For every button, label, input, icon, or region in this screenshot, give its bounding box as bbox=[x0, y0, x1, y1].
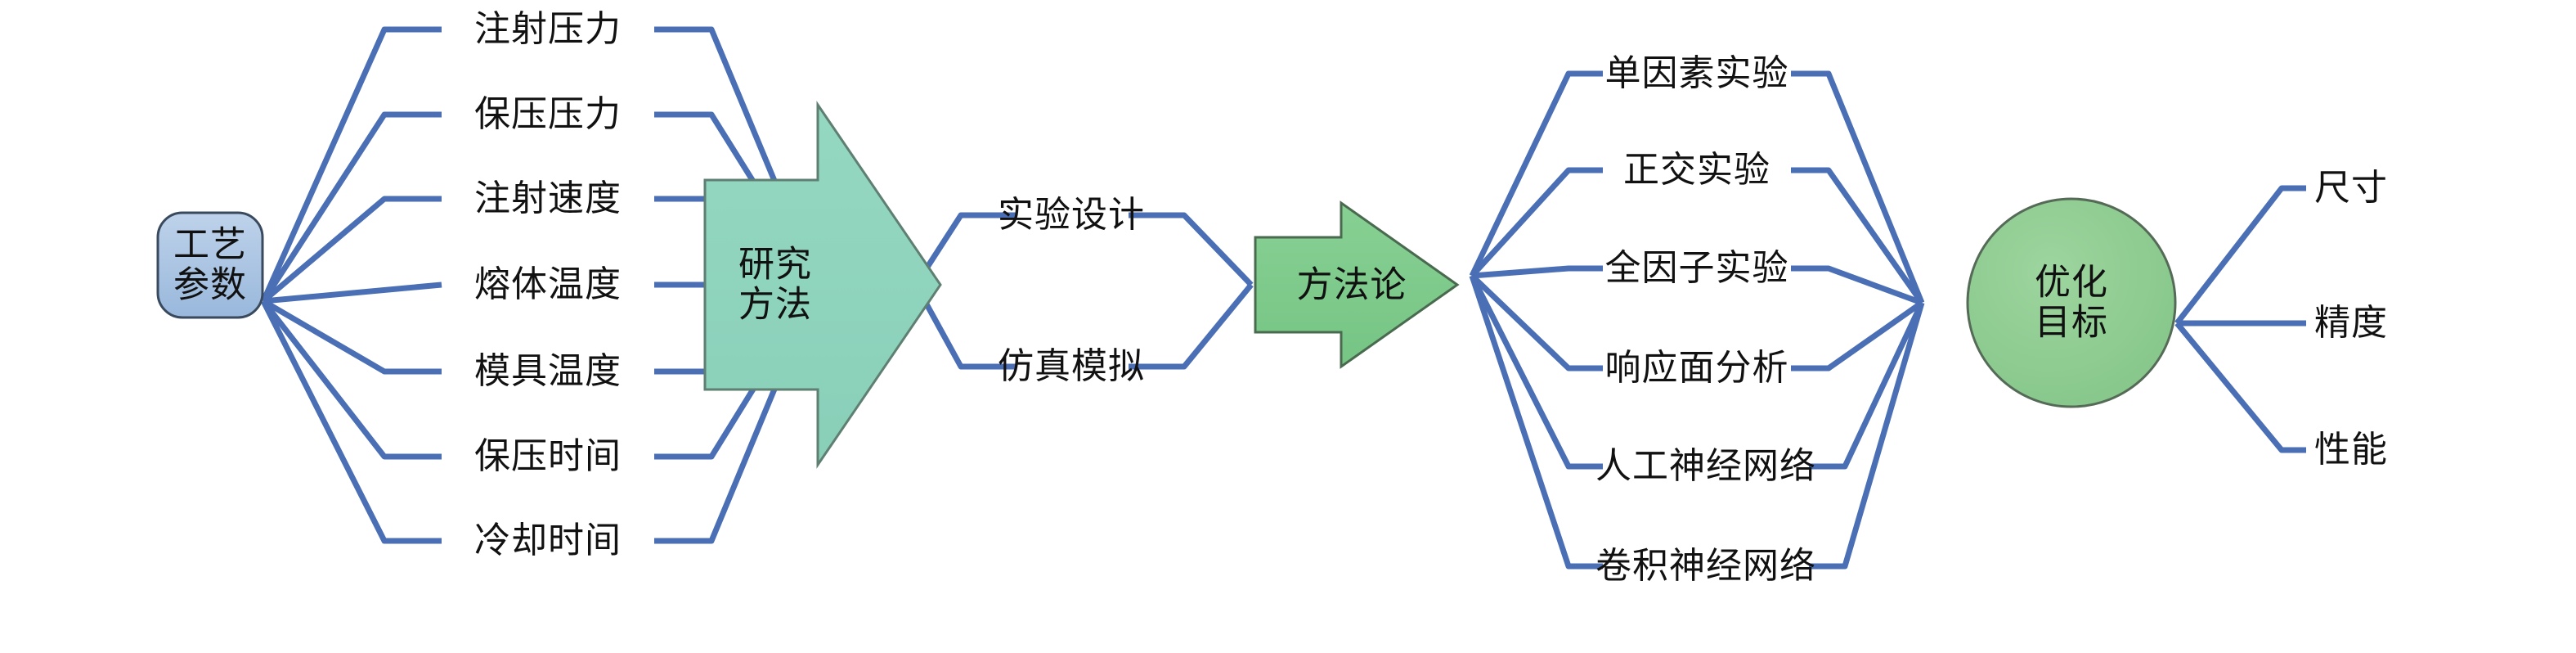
objective-label-dimension[interactable]: 尺寸 bbox=[2314, 169, 2388, 207]
connector-layer bbox=[0, 0, 2576, 653]
connectors-research-methods bbox=[916, 215, 1251, 367]
methodology-label-response-surface[interactable]: 响应面分析 bbox=[1605, 349, 1789, 387]
connectors-objectives bbox=[2177, 188, 2306, 450]
diagram-canvas: 工艺 参数 研究 方法 方法论 优化 目标 注射压力 保压压力 注射速度 熔体温… bbox=[0, 0, 2576, 653]
parameter-label-injection-pressure[interactable]: 注射压力 bbox=[474, 11, 622, 48]
parameter-label-holding-time[interactable]: 保压时间 bbox=[474, 438, 622, 475]
parameter-label-melt-temperature[interactable]: 熔体温度 bbox=[474, 266, 622, 304]
methodology-label-single-factor[interactable]: 单因素实验 bbox=[1605, 55, 1789, 92]
objective-label-precision[interactable]: 精度 bbox=[2314, 304, 2388, 342]
parameter-label-holding-pressure[interactable]: 保压压力 bbox=[474, 96, 622, 133]
methodology-label-ann[interactable]: 人工神经网络 bbox=[1595, 448, 1816, 485]
parameter-label-mold-temperature[interactable]: 模具温度 bbox=[474, 353, 622, 390]
methodology-label-cnn[interactable]: 卷积神经网络 bbox=[1595, 547, 1816, 585]
methodology-label-orthogonal[interactable]: 正交实验 bbox=[1623, 151, 1770, 189]
research-method-label-simulation[interactable]: 仿真模拟 bbox=[998, 348, 1145, 385]
parameter-label-injection-speed[interactable]: 注射速度 bbox=[474, 180, 622, 218]
methodology-label: 方法论 bbox=[1297, 264, 1407, 304]
parameter-label-cooling-time[interactable]: 冷却时间 bbox=[474, 522, 622, 560]
connectors-methodology bbox=[1472, 74, 1922, 566]
optimization-goal-label: 优化 目标 bbox=[2035, 263, 2108, 344]
process-parameters-label: 工艺 参数 bbox=[173, 225, 247, 306]
research-method-label: 研究 方法 bbox=[738, 245, 812, 326]
objective-label-performance[interactable]: 性能 bbox=[2314, 431, 2388, 469]
methodology-label-full-factorial[interactable]: 全因子实验 bbox=[1605, 250, 1789, 287]
research-method-label-experiment-design[interactable]: 实验设计 bbox=[998, 196, 1145, 234]
